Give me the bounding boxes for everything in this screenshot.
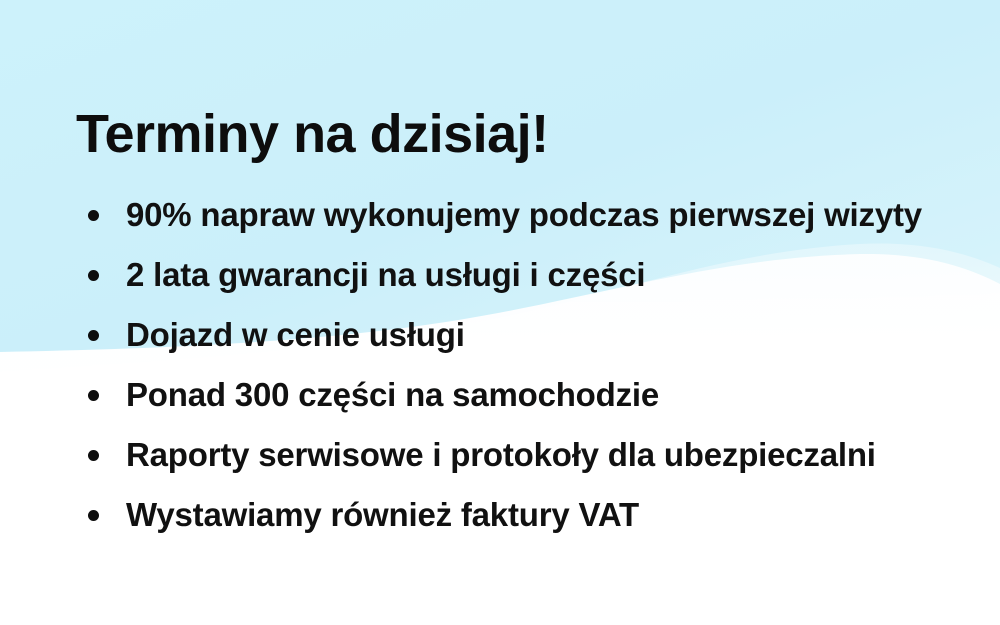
list-item: 2 lata gwarancji na usługi i części bbox=[76, 245, 976, 305]
list-item: Raporty serwisowe i protokoły dla ubezpi… bbox=[76, 425, 976, 485]
list-item-label: 2 lata gwarancji na usługi i części bbox=[126, 257, 645, 293]
page-title: Terminy na dzisiaj! bbox=[76, 106, 549, 163]
presentation-slide: Terminy na dzisiaj! 90% napraw wykonujem… bbox=[0, 0, 1000, 625]
list-item-label: Dojazd w cenie usługi bbox=[126, 317, 465, 353]
bullet-circle-icon bbox=[88, 270, 99, 281]
list-item-label: 90% napraw wykonujemy podczas pierwszej … bbox=[126, 197, 922, 233]
list-item-label: Ponad 300 części na samochodzie bbox=[126, 377, 659, 413]
list-item: Dojazd w cenie usługi bbox=[76, 305, 976, 365]
bullet-circle-icon bbox=[88, 510, 99, 521]
bullet-circle-icon bbox=[88, 330, 99, 341]
list-item-label: Wystawiamy również faktury VAT bbox=[126, 497, 639, 533]
slide-content: Terminy na dzisiaj! 90% napraw wykonujem… bbox=[0, 0, 1000, 625]
bullet-list: 90% napraw wykonujemy podczas pierwszej … bbox=[76, 185, 976, 545]
bullet-circle-icon bbox=[88, 210, 99, 221]
bullet-circle-icon bbox=[88, 450, 99, 461]
list-item: 90% napraw wykonujemy podczas pierwszej … bbox=[76, 185, 976, 245]
bullet-circle-icon bbox=[88, 390, 99, 401]
list-item: Ponad 300 części na samochodzie bbox=[76, 365, 976, 425]
list-item-label: Raporty serwisowe i protokoły dla ubezpi… bbox=[126, 437, 876, 473]
list-item: Wystawiamy również faktury VAT bbox=[76, 485, 976, 545]
